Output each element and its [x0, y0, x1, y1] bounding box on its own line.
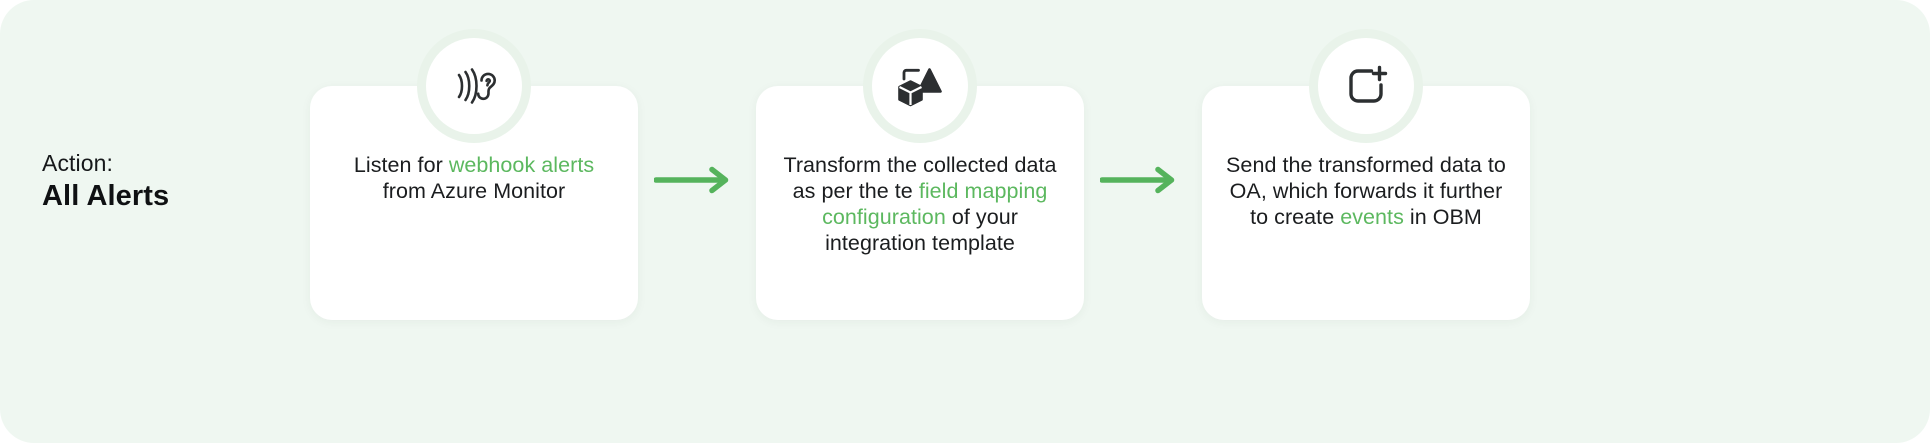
step-card-2-text: Transform the collected data as per the … — [778, 152, 1062, 256]
arrow-right-icon — [1100, 166, 1182, 194]
highlighted-term: webhook alerts — [449, 153, 594, 177]
body-text: Listen for — [354, 153, 449, 177]
ear-listening-icon — [426, 38, 522, 134]
arrow-right-icon — [654, 166, 736, 194]
create-event-icon — [1318, 38, 1414, 134]
step-card-1-text: Listen for webhook alerts from Azure Mon… — [332, 152, 616, 204]
body-text: from Azure Monitor — [383, 179, 566, 203]
shape-transform-icon — [872, 38, 968, 134]
highlighted-term: events — [1340, 205, 1404, 229]
step-card-3-text: Send the transformed data to OA, which f… — [1224, 152, 1508, 230]
flow-diagram-panel: Action: All Alerts Listen for webhook al… — [0, 0, 1930, 443]
action-caption: Action: — [42, 148, 292, 178]
action-value: All Alerts — [42, 178, 292, 214]
action-block: Action: All Alerts — [42, 148, 292, 214]
body-text: in OBM — [1404, 205, 1482, 229]
